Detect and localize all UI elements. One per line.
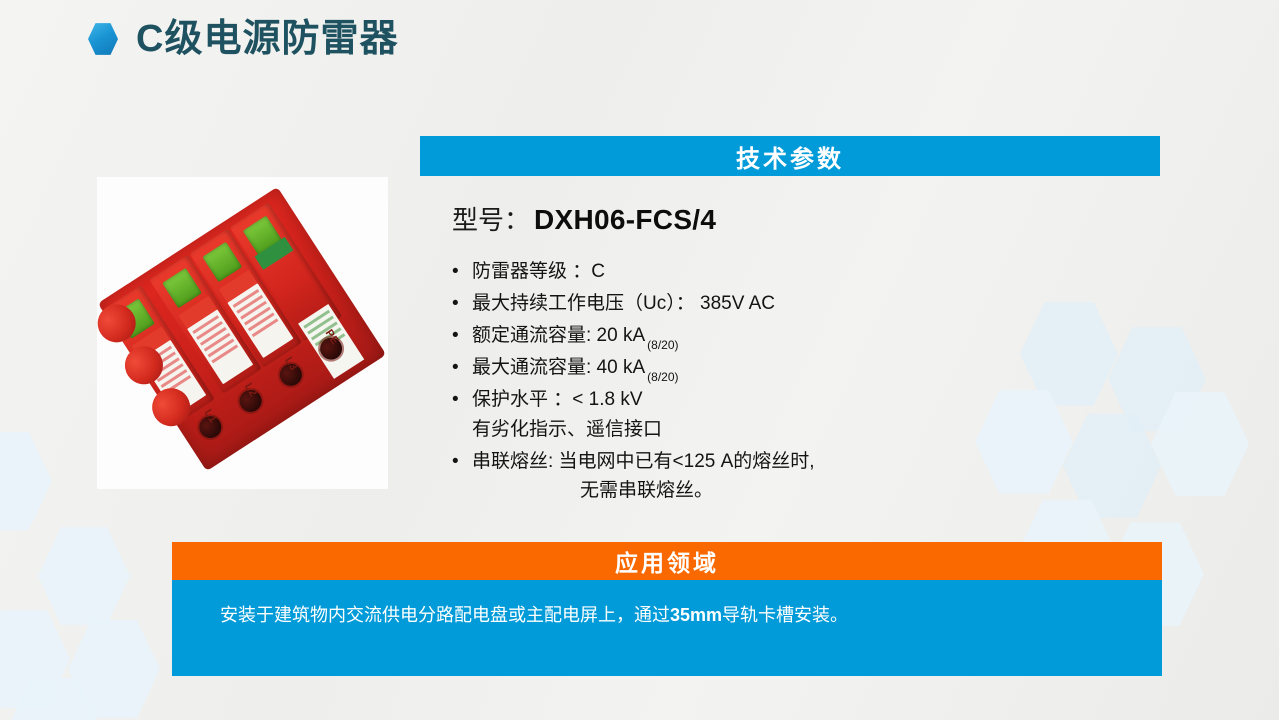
spec-text: 防雷器等级 ：C [472,258,1012,287]
model-value: DXH06-FCS/4 [534,204,716,236]
bullet-icon: • [452,322,472,351]
bullet-icon: • [452,354,472,383]
product-image-canvas: L1 L2 L3 PE [97,177,388,489]
model-line: 型号： DXH06-FCS/4 [452,200,716,237]
spec-text: 串联熔丝: 当电网中已有<125 A的熔丝时, [472,451,815,472]
application-header-text: 应用领域 [615,544,719,578]
spec-text: 额定通流容量: 20 kA [472,325,645,346]
spec-text: 保护水平 ：< 1.8 kV [472,389,643,410]
spec-item: • 串联熔丝: 当电网中已有<125 A的熔丝时, 无需串联熔丝。 [452,448,1012,507]
spec-subscript: (8/20) [647,338,678,352]
spec-text-continuation: 无需串联熔丝。 [472,477,1012,506]
hexagon-icon [88,23,118,56]
spec-text-wrap: 最大通流容量: 40 kA(8/20) [472,354,1012,383]
application-text-bold: 35mm [670,605,722,625]
bullet-icon: • [452,290,472,319]
spec-list: • 防雷器等级 ：C • 最大持续工作电压（Uc）： 385V AC • 额定通… [452,258,1012,509]
application-text: 安装于建筑物内交流供电分路配电盘或主配电屏上，通过35mm导轨卡槽安装。 [220,602,1142,629]
bullet-icon: • [452,386,472,415]
spec-item: • 防雷器等级 ：C [452,258,1012,287]
tech-params-header-text: 技术参数 [736,139,844,174]
spec-item: • 额定通流容量: 20 kA(8/20) [452,322,1012,351]
slide-canvas: C级电源防雷器 [0,0,1279,720]
spec-item: • 最大持续工作电压（Uc）： 385V AC [452,290,1012,319]
spd-device-illustration: L1 L2 L3 PE [98,187,386,471]
application-text-after: 导轨卡槽安装。 [722,605,848,625]
spec-item: • 保护水平 ：< 1.8 kV 有劣化指示、遥信接口 [452,386,1012,445]
product-image: L1 L2 L3 PE [97,177,388,489]
model-label: 型号： [452,200,530,237]
page-title: C级电源防雷器 [88,20,398,58]
spec-item: • 最大通流容量: 40 kA(8/20) [452,354,1012,383]
application-header: 应用领域 [172,542,1162,580]
spec-text-wrap: 额定通流容量: 20 kA(8/20) [472,322,1012,351]
application-body: 安装于建筑物内交流供电分路配电盘或主配电屏上，通过35mm导轨卡槽安装。 [172,580,1162,676]
page-title-text: C级电源防雷器 [136,20,398,58]
spec-text-wrap: 保护水平 ：< 1.8 kV 有劣化指示、遥信接口 [472,386,1012,445]
spec-text: 最大持续工作电压（Uc）： 385V AC [472,290,1012,319]
spd-indicator-window [162,268,202,308]
spec-subscript: (8/20) [647,370,678,384]
spec-text: 最大通流容量: 40 kA [472,357,645,378]
spec-text-extra: 有劣化指示、遥信接口 [472,416,1012,445]
application-text-before: 安装于建筑物内交流供电分路配电盘或主配电屏上，通过 [220,605,670,625]
bullet-icon: • [452,448,472,477]
spd-indicator-window [202,242,242,282]
spec-text-wrap: 串联熔丝: 当电网中已有<125 A的熔丝时, 无需串联熔丝。 [472,448,1012,507]
bullet-icon: • [452,258,472,287]
tech-params-header: 技术参数 [420,136,1160,176]
